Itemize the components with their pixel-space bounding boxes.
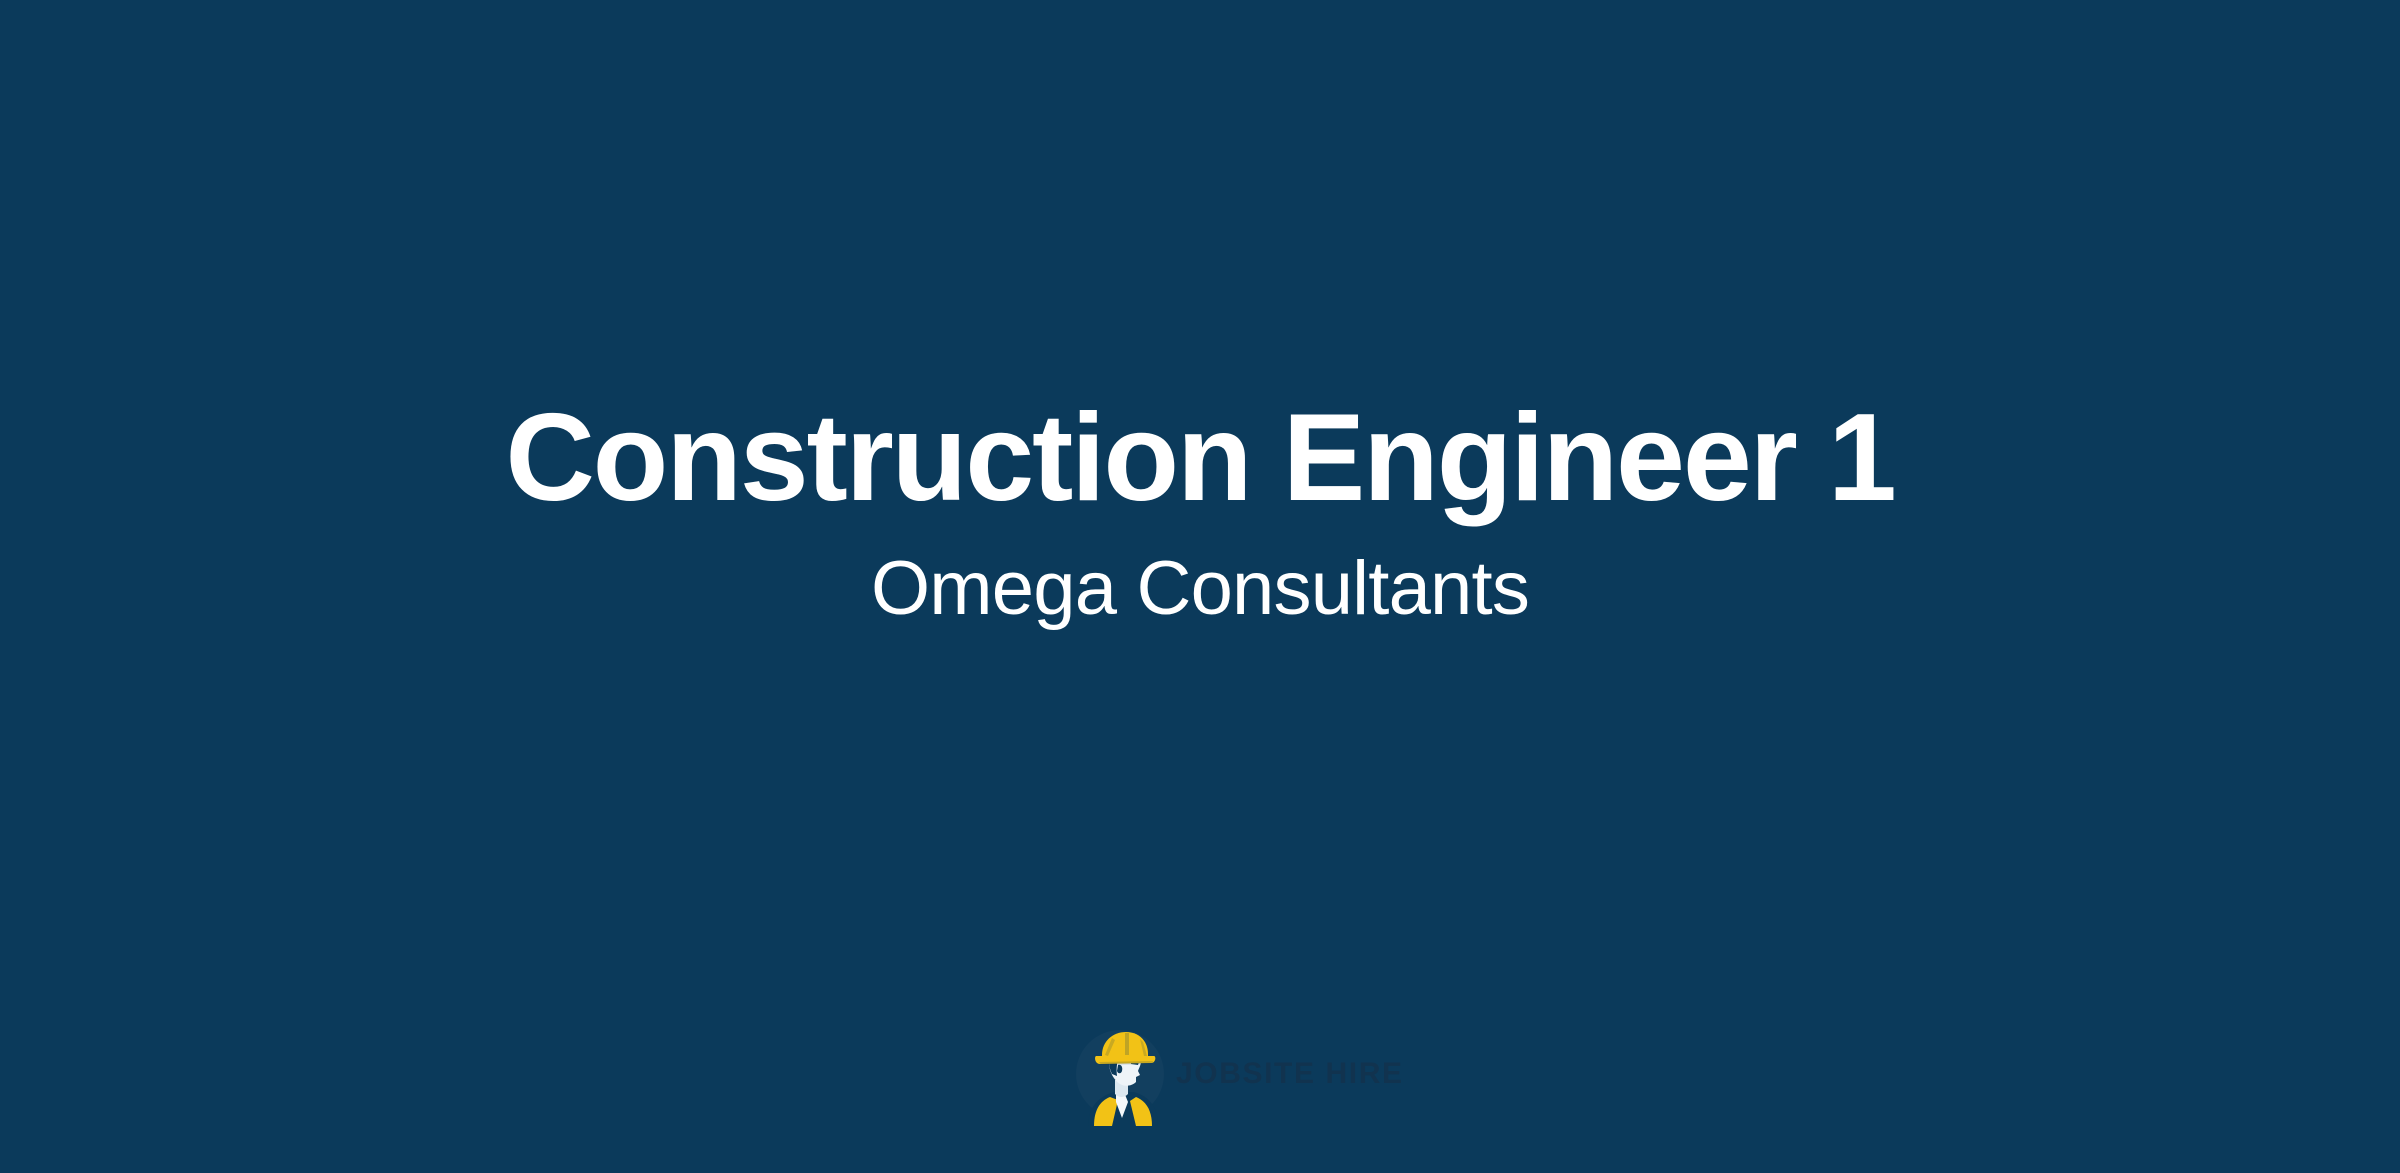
company-name: Omega Consultants (0, 551, 2400, 627)
page-title: Construction Engineer 1 (0, 396, 2400, 520)
job-posting-card: Construction Engineer 1 Omega Consultant… (0, 0, 2400, 1173)
brand-logo[interactable]: JOBSITE HIRE (1068, 1022, 1404, 1126)
hero-text-block: Construction Engineer 1 Omega Consultant… (0, 0, 2400, 1173)
brand-wordmark: JOBSITE HIRE (1176, 1059, 1404, 1089)
construction-worker-hardhat-icon (1068, 1022, 1172, 1126)
